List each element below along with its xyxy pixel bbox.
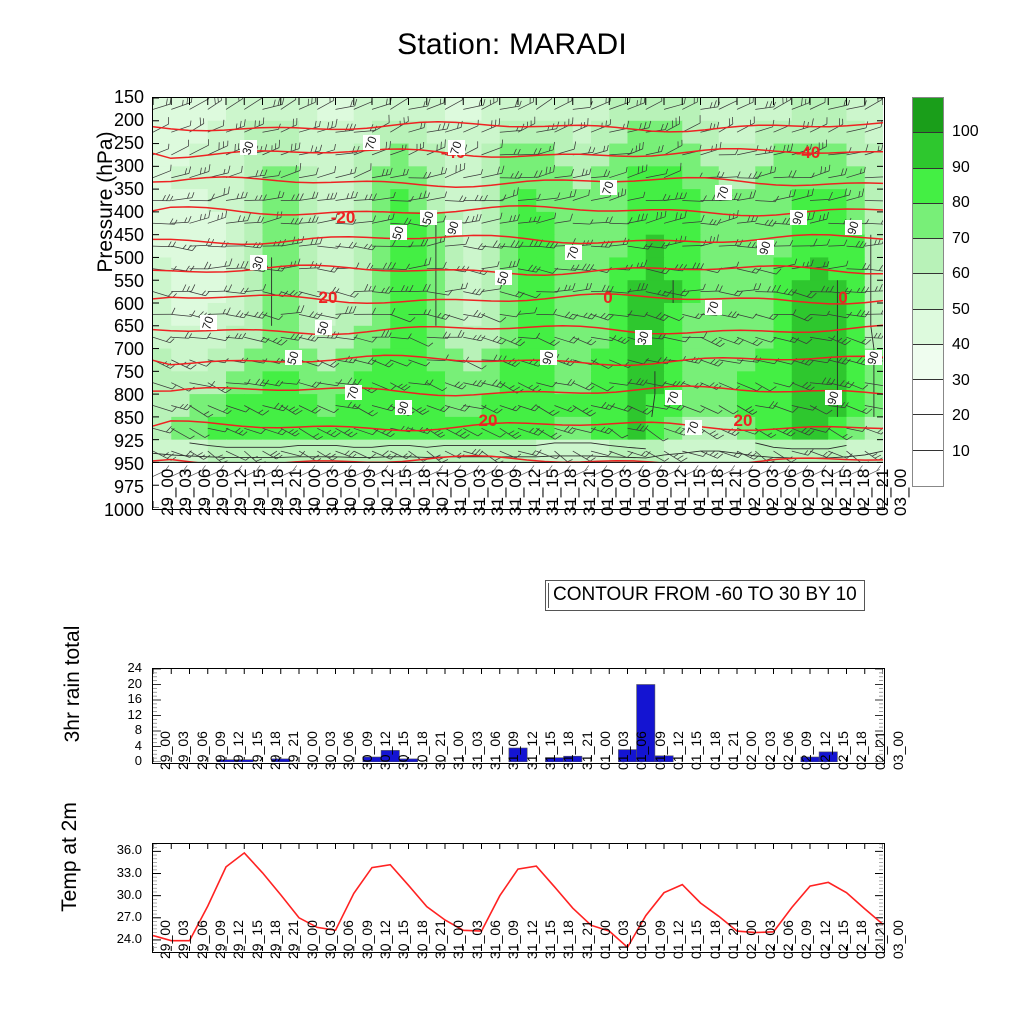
rain-tick-20: 20	[108, 677, 142, 690]
xtick-02_06: 02_06	[780, 920, 796, 959]
xtick-02_09: 02_09	[798, 920, 814, 959]
xtick-01_09: 01_09	[652, 920, 668, 959]
chart-page: Station: MARADI Pressure (hPa) 150200250…	[0, 0, 1024, 1024]
xtick-30_21: 30_21	[433, 469, 453, 516]
pressure-tick-150: 150	[90, 88, 144, 106]
xtick-29_18: 29_18	[267, 920, 283, 959]
pressure-tick-250: 250	[90, 134, 144, 152]
xtick-30_06: 30_06	[340, 731, 356, 770]
xtick-02_00: 02_00	[745, 469, 765, 516]
xtick-30_00: 30_00	[304, 731, 320, 770]
xtick-02_00: 02_00	[743, 731, 759, 770]
xtick-30_03: 30_03	[322, 731, 338, 770]
xtick-29_15: 29_15	[249, 731, 265, 770]
colorbar-label-70: 70	[952, 231, 970, 247]
xtick-29_03: 29_03	[176, 469, 196, 516]
colorbar-cell-2	[913, 169, 943, 204]
colorbar-cell-6	[913, 310, 943, 345]
temp-tick-36.0: 36.0	[98, 843, 142, 856]
colorbar-cell-10	[913, 451, 943, 486]
xtick-31_21: 31_21	[579, 920, 595, 959]
page-title: Station: MARADI	[0, 28, 1024, 62]
xtick-01_18: 01_18	[707, 920, 723, 959]
xtick-31_00: 31_00	[450, 731, 466, 770]
xtick-30_09: 30_09	[359, 731, 375, 770]
xtick-02_09: 02_09	[799, 469, 819, 516]
xtick-31_06: 31_06	[487, 920, 503, 959]
svg-text:-20: -20	[331, 208, 356, 227]
xtick-01_12: 01_12	[670, 731, 686, 770]
colorbar-label-40: 40	[952, 337, 970, 353]
temp-tick-30.0: 30.0	[98, 888, 142, 901]
pressure-tick-800: 800	[90, 386, 144, 404]
xtick-31_12: 31_12	[524, 731, 540, 770]
pressure-tick-700: 700	[90, 340, 144, 358]
colorbar-label-20: 20	[952, 408, 970, 424]
pressure-tick-600: 600	[90, 295, 144, 313]
xtick-01_15: 01_15	[690, 469, 710, 516]
xtick-30_09: 30_09	[360, 469, 380, 516]
xtick-29_15: 29_15	[250, 469, 270, 516]
pressure-tick-500: 500	[90, 249, 144, 267]
xtick-01_15: 01_15	[688, 731, 704, 770]
temp-tick-33.0: 33.0	[98, 866, 142, 879]
svg-text:-40: -40	[796, 143, 821, 162]
colorbar-label-100: 100	[952, 124, 979, 140]
xtick-31_00: 31_00	[450, 920, 466, 959]
svg-text:0: 0	[603, 288, 612, 307]
xtick-29_21: 29_21	[285, 731, 301, 770]
xtick-30_15: 30_15	[395, 920, 411, 959]
pressure-tick-650: 650	[90, 317, 144, 335]
xtick-29_06: 29_06	[195, 469, 215, 516]
xtick-01_18: 01_18	[707, 731, 723, 770]
xtick-31_15: 31_15	[542, 920, 558, 959]
colorbar-label-10: 10	[952, 444, 970, 460]
xtick-03_00: 03_00	[891, 469, 911, 516]
xtick-02_21: 02_21	[872, 731, 888, 770]
xtick-29_03: 29_03	[175, 731, 191, 770]
colorbar-label-90: 90	[952, 160, 970, 176]
xtick-29_03: 29_03	[175, 920, 191, 959]
pressure-tick-350: 350	[90, 180, 144, 198]
xtick-02_12: 02_12	[817, 731, 833, 770]
svg-text:0: 0	[838, 288, 847, 307]
pressure-tick-975: 975	[90, 478, 144, 496]
colorbar-cell-4	[913, 239, 943, 274]
xtick-30_12: 30_12	[377, 920, 393, 959]
xtick-31_18: 31_18	[561, 469, 581, 516]
xtick-31_18: 31_18	[560, 920, 576, 959]
xtick-03_00: 03_00	[890, 920, 906, 959]
xtick-30_06: 30_06	[341, 469, 361, 516]
colorbar-label-80: 80	[952, 195, 970, 211]
svg-text:20: 20	[479, 411, 498, 430]
xtick-01_21: 01_21	[726, 469, 746, 516]
humidity-colorbar	[912, 97, 944, 487]
xtick-30_00: 30_00	[304, 920, 320, 959]
xtick-01_06: 01_06	[635, 469, 655, 516]
xtick-30_21: 30_21	[432, 920, 448, 959]
xtick-30_06: 30_06	[340, 920, 356, 959]
colorbar-cell-5	[913, 274, 943, 309]
pressure-tick-200: 200	[90, 111, 144, 129]
rain-tick-4: 4	[108, 739, 142, 752]
xtick-01_03: 01_03	[615, 731, 631, 770]
pressure-tick-450: 450	[90, 226, 144, 244]
xtick-01_18: 01_18	[708, 469, 728, 516]
xtick-31_09: 31_09	[506, 469, 526, 516]
xtick-29_06: 29_06	[194, 920, 210, 959]
xtick-29_00: 29_00	[157, 920, 173, 959]
rain-tick-8: 8	[108, 723, 142, 736]
xtick-02_12: 02_12	[817, 920, 833, 959]
xtick-01_00: 01_00	[597, 731, 613, 770]
xtick-30_21: 30_21	[432, 731, 448, 770]
xtick-29_15: 29_15	[249, 920, 265, 959]
pressure-tick-950: 950	[90, 455, 144, 473]
xtick-02_18: 02_18	[853, 731, 869, 770]
xtick-02_03: 02_03	[763, 469, 783, 516]
xtick-01_21: 01_21	[725, 920, 741, 959]
xtick-02_03: 02_03	[762, 731, 778, 770]
xtick-31_21: 31_21	[579, 731, 595, 770]
colorbar-cell-7	[913, 345, 943, 380]
xtick-31_06: 31_06	[488, 469, 508, 516]
xtick-30_15: 30_15	[396, 469, 416, 516]
xtick-02_18: 02_18	[854, 469, 874, 516]
rain-tick-16: 16	[108, 692, 142, 705]
xtick-30_18: 30_18	[415, 469, 435, 516]
colorbar-cell-1	[913, 133, 943, 168]
xtick-29_06: 29_06	[194, 731, 210, 770]
xtick-31_15: 31_15	[543, 469, 563, 516]
pressure-tick-925: 925	[90, 432, 144, 450]
pressure-tick-750: 750	[90, 363, 144, 381]
colorbar-label-30: 30	[952, 373, 970, 389]
rain-tick-12: 12	[108, 708, 142, 721]
xtick-31_12: 31_12	[524, 920, 540, 959]
xtick-02_15: 02_15	[835, 731, 851, 770]
xtick-29_12: 29_12	[230, 920, 246, 959]
xtick-01_06: 01_06	[633, 920, 649, 959]
xtick-01_12: 01_12	[670, 920, 686, 959]
xtick-01_00: 01_00	[597, 920, 613, 959]
xtick-01_15: 01_15	[688, 920, 704, 959]
xtick-30_09: 30_09	[359, 920, 375, 959]
colorbar-cell-0	[913, 98, 943, 133]
humidity-time-height-plot: -40-40-202000202020307070503050507070507…	[152, 97, 885, 510]
xtick-30_18: 30_18	[414, 731, 430, 770]
xtick-31_18: 31_18	[560, 731, 576, 770]
xtick-01_09: 01_09	[652, 731, 668, 770]
xtick-31_15: 31_15	[542, 731, 558, 770]
xtick-29_12: 29_12	[230, 731, 246, 770]
colorbar-cell-9	[913, 415, 943, 450]
temp-tick-24.0: 24.0	[98, 932, 142, 945]
colorbar-label-60: 60	[952, 266, 970, 282]
xtick-02_21: 02_21	[873, 469, 893, 516]
svg-text:20: 20	[319, 288, 338, 307]
xtick-31_03: 31_03	[469, 920, 485, 959]
xtick-31_09: 31_09	[505, 731, 521, 770]
rain-tick-24: 24	[108, 661, 142, 674]
xtick-31_00: 31_00	[451, 469, 471, 516]
xtick-29_12: 29_12	[231, 469, 251, 516]
rain-axis-title: 3hr rain total	[61, 589, 85, 779]
xtick-30_12: 30_12	[377, 731, 393, 770]
xtick-29_18: 29_18	[267, 731, 283, 770]
xtick-01_00: 01_00	[598, 469, 618, 516]
xtick-02_09: 02_09	[798, 731, 814, 770]
xtick-02_18: 02_18	[853, 920, 869, 959]
xtick-02_00: 02_00	[743, 920, 759, 959]
xtick-02_03: 02_03	[762, 920, 778, 959]
xtick-30_00: 30_00	[305, 469, 325, 516]
pressure-tick-1000: 1000	[90, 501, 144, 519]
xtick-30_18: 30_18	[414, 920, 430, 959]
xtick-29_21: 29_21	[285, 920, 301, 959]
humidity-contour-svg: -40-40-202000202020307070503050507070507…	[153, 98, 883, 508]
contour-range-note: CONTOUR FROM -60 TO 30 BY 10	[545, 580, 865, 611]
xtick-02_21: 02_21	[872, 920, 888, 959]
xtick-31_09: 31_09	[505, 920, 521, 959]
xtick-29_21: 29_21	[286, 469, 306, 516]
temp-axis-title: Temp at 2m	[58, 757, 82, 957]
temp-tick-27.0: 27.0	[98, 910, 142, 923]
xtick-01_12: 01_12	[671, 469, 691, 516]
xtick-01_06: 01_06	[633, 731, 649, 770]
xtick-29_00: 29_00	[157, 731, 173, 770]
xtick-30_03: 30_03	[322, 920, 338, 959]
xtick-31_21: 31_21	[580, 469, 600, 516]
xtick-31_03: 31_03	[470, 469, 490, 516]
colorbar-cell-8	[913, 380, 943, 415]
xtick-02_06: 02_06	[780, 731, 796, 770]
pressure-tick-850: 850	[90, 409, 144, 427]
rain-tick-0: 0	[108, 754, 142, 767]
xtick-03_00: 03_00	[890, 731, 906, 770]
xtick-01_03: 01_03	[615, 920, 631, 959]
colorbar-cell-3	[913, 204, 943, 239]
xtick-01_03: 01_03	[616, 469, 636, 516]
xtick-01_21: 01_21	[725, 731, 741, 770]
colorbar-label-50: 50	[952, 302, 970, 318]
xtick-29_09: 29_09	[212, 920, 228, 959]
xtick-02_15: 02_15	[835, 920, 851, 959]
pressure-tick-300: 300	[90, 157, 144, 175]
svg-text:20: 20	[734, 411, 753, 430]
pressure-tick-400: 400	[90, 203, 144, 221]
xtick-29_09: 29_09	[212, 731, 228, 770]
xtick-31_12: 31_12	[525, 469, 545, 516]
pressure-tick-550: 550	[90, 272, 144, 290]
xtick-02_12: 02_12	[818, 469, 838, 516]
xtick-30_15: 30_15	[395, 731, 411, 770]
xtick-01_09: 01_09	[653, 469, 673, 516]
xtick-31_03: 31_03	[469, 731, 485, 770]
xtick-31_06: 31_06	[487, 731, 503, 770]
